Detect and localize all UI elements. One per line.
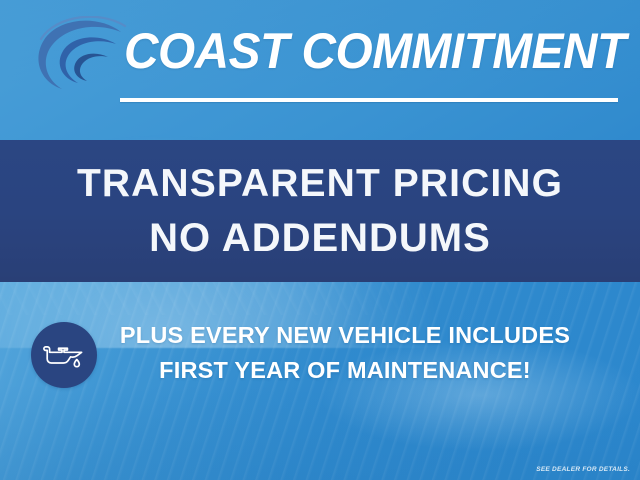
oil-can-icon	[31, 322, 97, 388]
promise-band: TRANSPARENT PRICING NO ADDENDUMS	[0, 140, 640, 282]
maintenance-text: PLUS EVERY NEW VEHICLE INCLUDES FIRST YE…	[110, 318, 580, 388]
banner-header: COAST COMMITMENT	[0, 0, 640, 140]
header-divider	[120, 98, 618, 102]
maintenance-line-2: FIRST YEAR OF MAINTENANCE!	[110, 353, 580, 388]
maintenance-offer-row: PLUS EVERY NEW VEHICLE INCLUDES FIRST YE…	[0, 318, 640, 406]
promise-line-2: NO ADDENDUMS	[149, 211, 491, 265]
maintenance-line-1: PLUS EVERY NEW VEHICLE INCLUDES	[110, 318, 580, 353]
coast-commitment-banner: COAST COMMITMENT TRANSPARENT PRICING NO …	[0, 0, 640, 480]
disclaimer-text: SEE DEALER FOR DETAILS.	[536, 466, 630, 473]
brand-title: COAST COMMITMENT	[124, 21, 602, 83]
wave-swirl-logo-icon	[24, 16, 132, 98]
promise-line-1: TRANSPARENT PRICING	[77, 157, 563, 211]
